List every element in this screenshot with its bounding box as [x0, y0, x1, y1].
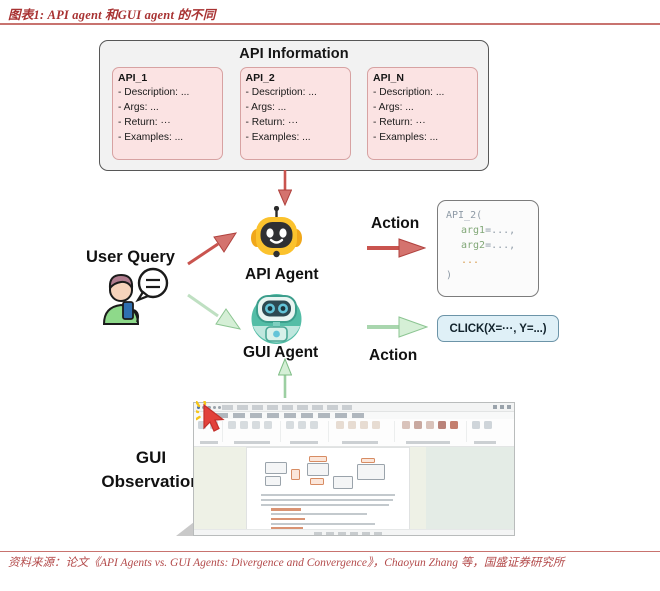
code-arg-value: =...,	[485, 225, 515, 236]
api-information-panel: API Information API_1 - Description: ...…	[99, 40, 489, 171]
statusbar-text	[314, 532, 384, 535]
gui-agent-label: GUI Agent	[243, 344, 318, 362]
api-card: API_1 - Description: ... - Args: ... - R…	[112, 67, 223, 160]
gui-observation-screenshot	[193, 402, 515, 536]
mouse-cursor-red-icon	[196, 401, 236, 437]
screenshot-statusbar	[194, 529, 514, 535]
api-card-line: - Examples: ...	[373, 130, 477, 145]
api-card-line: - Examples: ...	[246, 130, 350, 145]
api-agent-robot-icon	[249, 206, 304, 263]
api-card-name: API_2	[246, 72, 350, 85]
arrow-gui-observation-to-gui-agent-icon	[278, 358, 292, 398]
api-card-line: - Return: ···	[118, 115, 222, 130]
api-card-line: - Description: ...	[118, 85, 222, 100]
api-agent-label: API Agent	[245, 266, 318, 284]
page-body-text	[261, 494, 397, 530]
screenshot-ribbon	[194, 419, 514, 447]
api-card-line: - Args: ...	[246, 100, 350, 115]
user-query-label: User Query	[86, 248, 175, 267]
figure-title: 图表1: API agent 和GUI agent 的不同	[8, 4, 216, 23]
api-card-line: - Args: ...	[118, 100, 222, 115]
api-card: API_2 - Description: ... - Args: ... - R…	[240, 67, 351, 160]
gui-click-action-text: CLICK(X=···, Y=...)	[450, 323, 547, 335]
screenshot-document-area	[194, 447, 514, 536]
arrow-api-action-icon	[366, 238, 426, 258]
ribbon-group-styles	[336, 421, 380, 429]
api-card-list: API_1 - Description: ... - Args: ... - R…	[112, 67, 478, 160]
api-card-line: - Examples: ...	[118, 130, 222, 145]
code-line-2: arg1=...,	[446, 223, 538, 238]
gui-action-label: Action	[369, 347, 417, 365]
menubar-items	[216, 413, 366, 418]
api-card-line: - Description: ...	[373, 85, 477, 100]
code-function-name: API_2(	[446, 210, 482, 221]
code-arg-value: =...,	[485, 240, 515, 251]
user-query-person-icon	[96, 266, 172, 326]
screenshot-titlebar	[194, 403, 514, 412]
arrow-user-query-to-gui-agent-icon	[186, 292, 242, 330]
screenshot-page	[246, 447, 410, 533]
arrow-user-query-to-api-agent-icon	[186, 232, 238, 266]
api-information-title: API Information	[100, 46, 488, 62]
api-card-line: - Description: ...	[246, 85, 350, 100]
api-action-label: Action	[371, 215, 419, 233]
api-card-line: - Return: ···	[246, 115, 350, 130]
page-diagram-figure	[265, 456, 393, 490]
code-close-paren: )	[446, 270, 452, 281]
code-arg-name: arg2	[461, 240, 485, 251]
arrow-gui-action-icon	[366, 316, 428, 338]
code-ellipsis: ...	[461, 255, 479, 266]
screenshot-menubar	[194, 412, 514, 419]
ribbon-group-paragraph	[286, 421, 318, 429]
titlebar-document-name	[222, 405, 352, 410]
code-line-5: )	[446, 268, 538, 283]
api-call-code-block: API_2( arg1=..., arg2=..., ... )	[437, 200, 539, 297]
code-line-1: API_2(	[446, 208, 538, 223]
titlebar-window-controls	[493, 405, 511, 409]
ribbon-group-dictate	[472, 421, 492, 429]
arrow-api-info-to-api-agent-icon	[278, 170, 292, 206]
api-card: API_N - Description: ... - Args: ... - R…	[367, 67, 478, 160]
screenshot-side-pane	[426, 447, 514, 536]
code-line-3: arg2=...,	[446, 238, 538, 253]
source-note: 资料来源：论文《API Agents vs. GUI Agents: Diver…	[8, 556, 652, 571]
gui-agent-robot-icon	[249, 288, 304, 345]
ribbon-group-editing	[402, 421, 458, 429]
api-card-name: API_N	[373, 72, 477, 85]
api-card-line: - Args: ...	[373, 100, 477, 115]
gui-click-action-box: CLICK(X=···, Y=...)	[437, 315, 559, 342]
code-line-4: ...	[446, 253, 538, 268]
code-arg-name: arg1	[461, 225, 485, 236]
api-card-line: - Return: ···	[373, 115, 477, 130]
header-divider	[0, 23, 660, 25]
api-card-name: API_1	[118, 72, 222, 85]
footer-divider	[0, 551, 660, 552]
